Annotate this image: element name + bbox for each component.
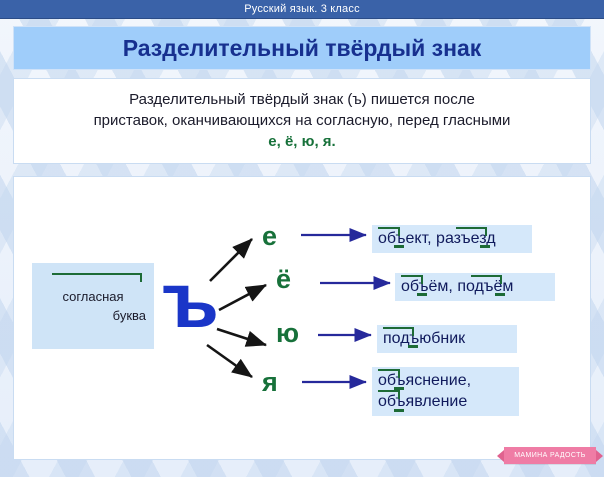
source-box-line-2: буква: [113, 306, 154, 325]
example-box-4: объяснение, объявление: [372, 367, 519, 416]
watermark-label: МАМИНА РАДОСТЬ: [514, 452, 586, 459]
prefix-bracket-icon: [456, 227, 487, 236]
hard-sign-underline: [417, 293, 427, 296]
vowel-letter-yu: ю: [276, 320, 299, 347]
rule-vowels: е, ё, ю, я.: [268, 131, 335, 153]
prefix-bracket-icon: [378, 369, 400, 378]
example-arrow-group: [301, 235, 390, 382]
prefix-bracket-icon: [471, 275, 502, 284]
prefix-bracket-icon: [378, 390, 400, 399]
page-title: Разделительный твёрдый знак: [123, 35, 482, 62]
diagram-panel: согласная буква ъ е ё ю я объект, разъез…: [13, 176, 591, 460]
topbar: Русский язык. 3 класс: [0, 0, 604, 19]
rule-panel: Разделительный твёрдый знак (ъ) пишется …: [13, 78, 591, 164]
vowel-letter-ya: я: [262, 369, 278, 396]
vowel-letter-e: е: [262, 223, 277, 250]
rule-line-1: Разделительный твёрдый знак (ъ) пишется …: [129, 89, 475, 110]
watermark-ribbon: МАМИНА РАДОСТЬ: [504, 447, 596, 464]
prefix-bracket-icon: [401, 275, 423, 284]
heading-banner: Разделительный твёрдый знак: [13, 26, 591, 70]
example-box-3: подъюбник: [377, 325, 517, 353]
hard-sign-underline: [394, 245, 404, 248]
vowel-letter-yo: ё: [276, 266, 291, 293]
hard-sign-glyph: ъ: [162, 261, 219, 339]
example-box-2: объём, подъём: [395, 273, 555, 301]
rule-line-2: приставок, оканчивающихся на согласную, …: [94, 110, 511, 131]
hard-sign-underline: [480, 245, 490, 248]
source-box: согласная буква: [32, 263, 154, 349]
hard-sign-underline: [495, 293, 505, 296]
hard-sign-underline: [394, 409, 404, 412]
prefix-bracket-icon: [378, 227, 400, 236]
hard-sign-underline: [408, 345, 418, 348]
source-box-line-1: согласная: [62, 287, 123, 306]
subject-grade-label: Русский язык. 3 класс: [244, 3, 360, 15]
example-box-1: объект, разъезд: [372, 225, 532, 253]
prefix-bracket-icon: [383, 327, 414, 336]
prefix-bracket-icon: [52, 273, 142, 282]
